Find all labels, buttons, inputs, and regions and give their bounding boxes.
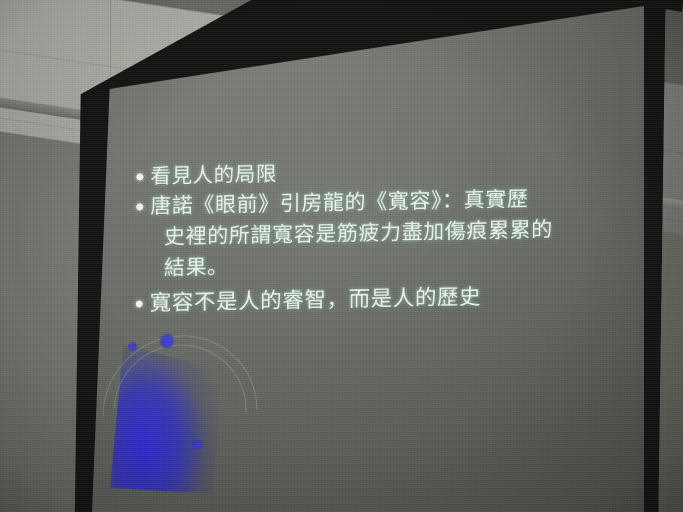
decorative-dot-lower	[192, 440, 202, 450]
decorative-dot-large	[160, 334, 174, 348]
bullet-marker-icon	[136, 173, 143, 180]
slide-text-body: 看見人的局限 唐諾《眼前》引房龍的《寬容》：真實歷 史裡的所謂寬容是筋疲力盡加傷…	[136, 153, 607, 320]
slide-decoration	[108, 328, 278, 500]
bullet-marker-icon	[136, 300, 143, 307]
bullet-marker-icon	[136, 203, 143, 210]
decorative-dot-small	[128, 342, 137, 351]
projection-screen-surface: 看見人的局限 唐諾《眼前》引房龍的《寬容》：真實歷 史裡的所謂寬容是筋疲力盡加傷…	[92, 6, 644, 512]
photo-scene: 看見人的局限 唐諾《眼前》引房龍的《寬容》：真實歷 史裡的所謂寬容是筋疲力盡加傷…	[0, 0, 683, 512]
